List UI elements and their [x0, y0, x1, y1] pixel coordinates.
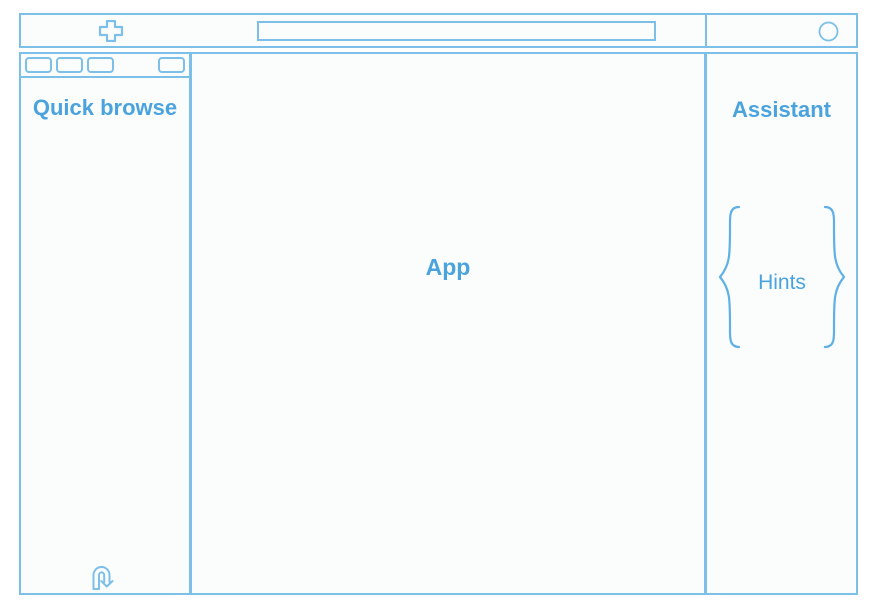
plus-icon[interactable]: [97, 20, 125, 42]
sidebar-toolbar-chip-2[interactable]: [56, 57, 83, 73]
app-label: App: [190, 254, 706, 281]
circle-avatar-icon[interactable]: [818, 21, 839, 42]
undo-uturn-icon[interactable]: [88, 562, 122, 592]
search-input[interactable]: [257, 21, 656, 41]
sidebar-toolbar-chip-4[interactable]: [158, 57, 185, 73]
sidebar-toolbar-chip-1[interactable]: [25, 57, 52, 73]
sidebar-toolbar-chip-3[interactable]: [87, 57, 114, 73]
wireframe-canvas: Quick browse App Assistant Hints: [0, 0, 879, 616]
sidebar-title: Quick browse: [19, 93, 191, 123]
sidebar-panel: [19, 52, 191, 595]
hints-label: Hints: [717, 271, 847, 295]
app-content-panel: [190, 52, 706, 595]
assistant-title: Assistant: [705, 97, 858, 123]
topbar-divider: [705, 13, 707, 48]
